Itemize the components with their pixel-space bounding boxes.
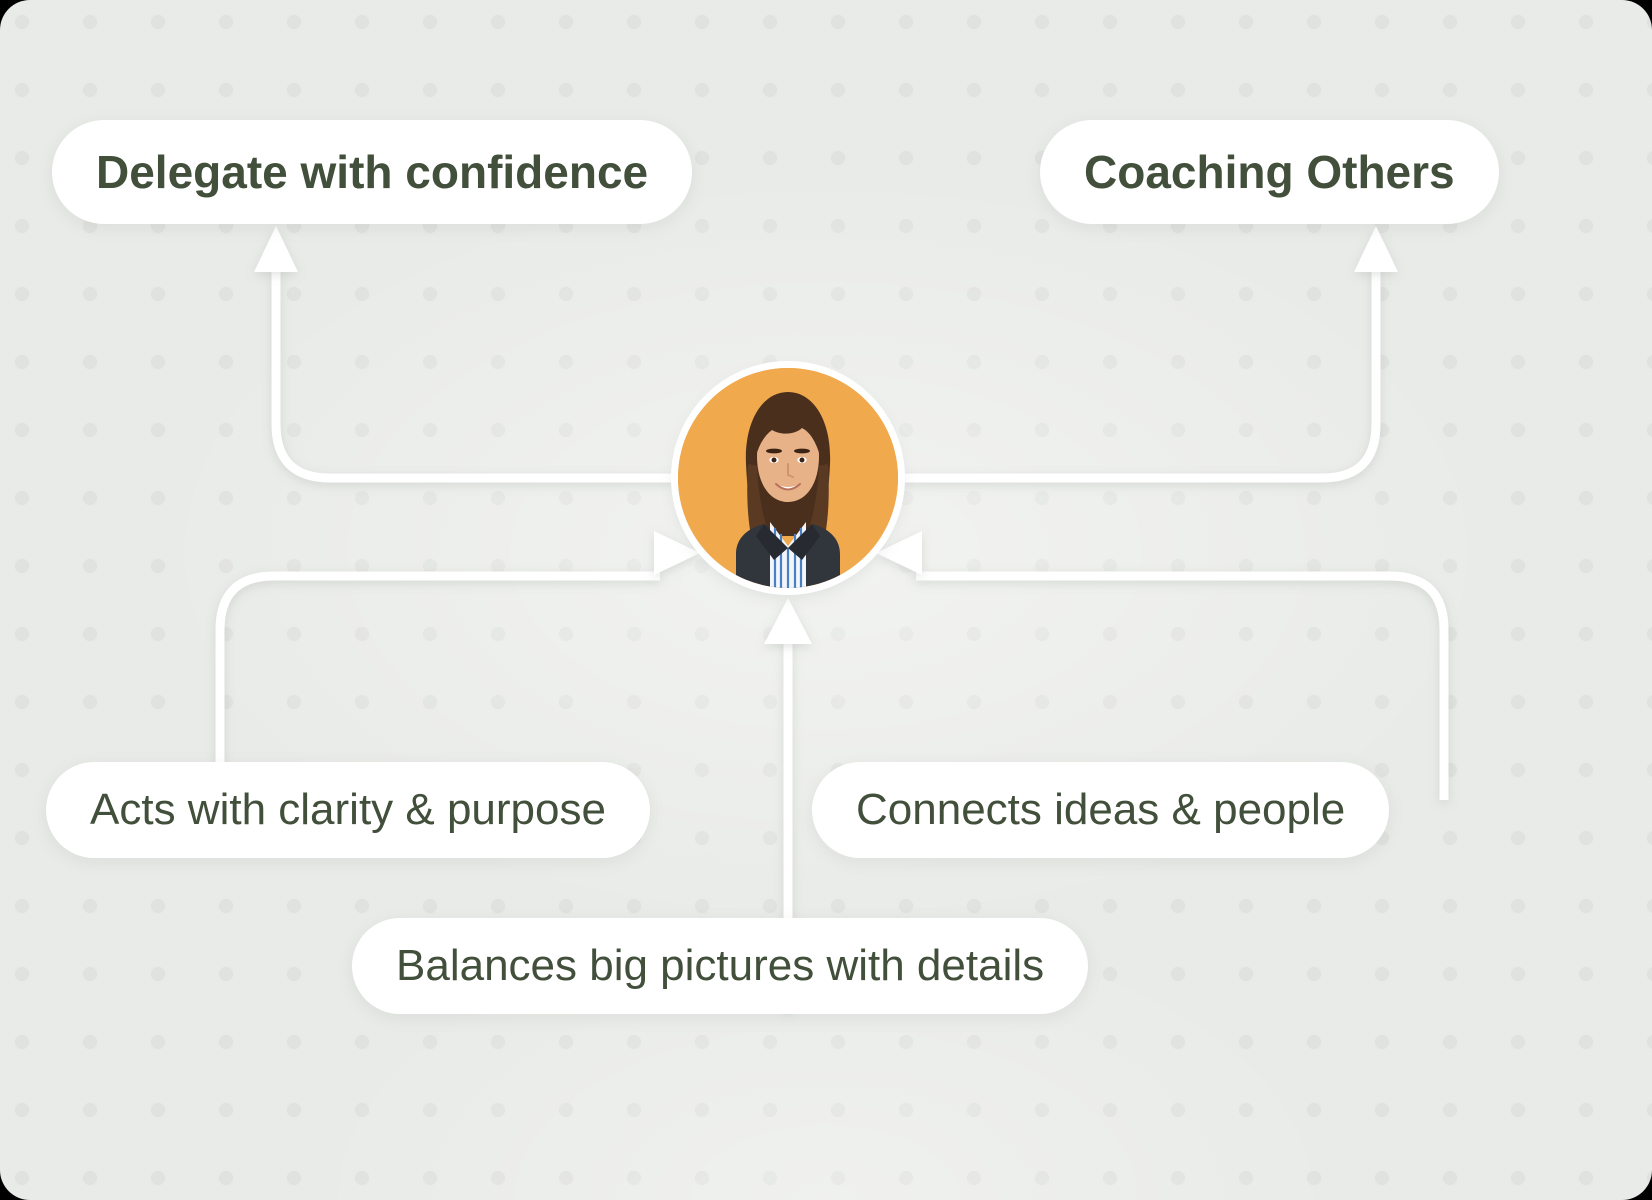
- dotted-background: Delegate with confidence Coaching Others…: [0, 0, 1652, 1200]
- diagram-canvas: Delegate with confidence Coaching Others…: [0, 0, 1652, 1200]
- node-label: Connects ideas & people: [856, 785, 1345, 835]
- node-label: Coaching Others: [1084, 145, 1455, 199]
- node-acts-with-clarity-purpose[interactable]: Acts with clarity & purpose: [46, 762, 650, 858]
- node-delegate-with-confidence[interactable]: Delegate with confidence: [52, 120, 692, 224]
- node-coaching-others[interactable]: Coaching Others: [1040, 120, 1499, 224]
- connector-center-to-delegate: [276, 268, 676, 478]
- connector-center-to-coaching: [900, 268, 1376, 478]
- portrait-illustration: [678, 368, 898, 588]
- node-label: Acts with clarity & purpose: [90, 785, 606, 835]
- profile-avatar[interactable]: [678, 368, 898, 588]
- arrowhead-center-bottom: [764, 598, 812, 644]
- arrowhead-delegate: [254, 226, 298, 272]
- node-balances-big-pictures-with-details[interactable]: Balances big pictures with details: [352, 918, 1088, 1014]
- arrowhead-coaching: [1354, 226, 1398, 272]
- node-label: Balances big pictures with details: [396, 941, 1044, 991]
- node-label: Delegate with confidence: [96, 145, 648, 199]
- node-connects-ideas-people[interactable]: Connects ideas & people: [812, 762, 1389, 858]
